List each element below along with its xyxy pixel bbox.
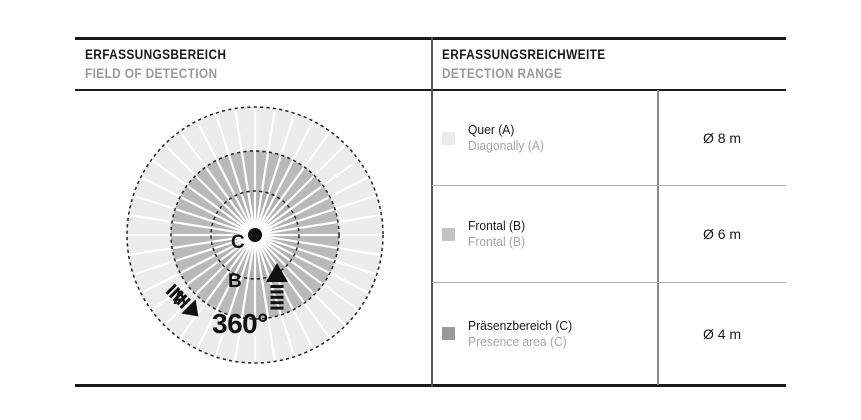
legend-swatch-icon [442, 132, 455, 145]
range-label-en: Presence area (C) [468, 334, 572, 350]
field-of-detection-header: ERFASSUNGSBEREICH FIELD OF DETECTION [85, 46, 246, 82]
range-value: Ø 4 m [658, 326, 786, 342]
range-label-en: Diagonally (A) [468, 138, 544, 154]
header-title-en: FIELD OF DETECTION [85, 65, 226, 82]
diagram-label-angle: 360° [212, 308, 268, 340]
header-title-en: DETECTION RANGE [442, 65, 605, 82]
header-title-de: ERFASSUNGSREICHWEITE [442, 46, 605, 63]
diagram-label-a: A [173, 288, 187, 310]
range-label-de: Frontal (B) [468, 218, 525, 234]
legend-swatch-icon [442, 327, 455, 340]
range-row-c: Präsenzbereich (C) Presence area (C) Ø 4… [432, 283, 786, 384]
range-row-b: Frontal (B) Frontal (B) Ø 6 m [432, 186, 786, 282]
diagram-label-b: B [228, 271, 242, 293]
header-title-de: ERFASSUNGSBEREICH [85, 46, 226, 63]
range-row-labels: Frontal (B) Frontal (B) [468, 218, 529, 250]
detection-field-diagram: C B A 360° [120, 100, 390, 370]
range-row-a: Quer (A) Diagonally (A) Ø 8 m [432, 91, 786, 185]
range-label-de: Quer (A) [468, 122, 544, 138]
range-row-labels: Präsenzbereich (C) Presence area (C) [468, 318, 580, 350]
range-label-en: Frontal (B) [468, 234, 525, 250]
range-row-labels: Quer (A) Diagonally (A) [468, 122, 550, 154]
detection-range-header: ERFASSUNGSREICHWEITE DETECTION RANGE [442, 46, 628, 82]
range-row-label-group: Quer (A) Diagonally (A) [442, 122, 550, 154]
range-value: Ø 6 m [658, 226, 786, 242]
range-label-de: Präsenzbereich (C) [468, 318, 572, 334]
diagram-label-c: C [231, 232, 245, 254]
range-row-label-group: Präsenzbereich (C) Presence area (C) [442, 318, 580, 350]
range-value: Ø 8 m [658, 130, 786, 146]
legend-swatch-icon [442, 228, 455, 241]
range-row-label-group: Frontal (B) Frontal (B) [442, 218, 529, 250]
detection-datasheet: ERFASSUNGSBEREICH FIELD OF DETECTION ERF… [0, 0, 861, 420]
